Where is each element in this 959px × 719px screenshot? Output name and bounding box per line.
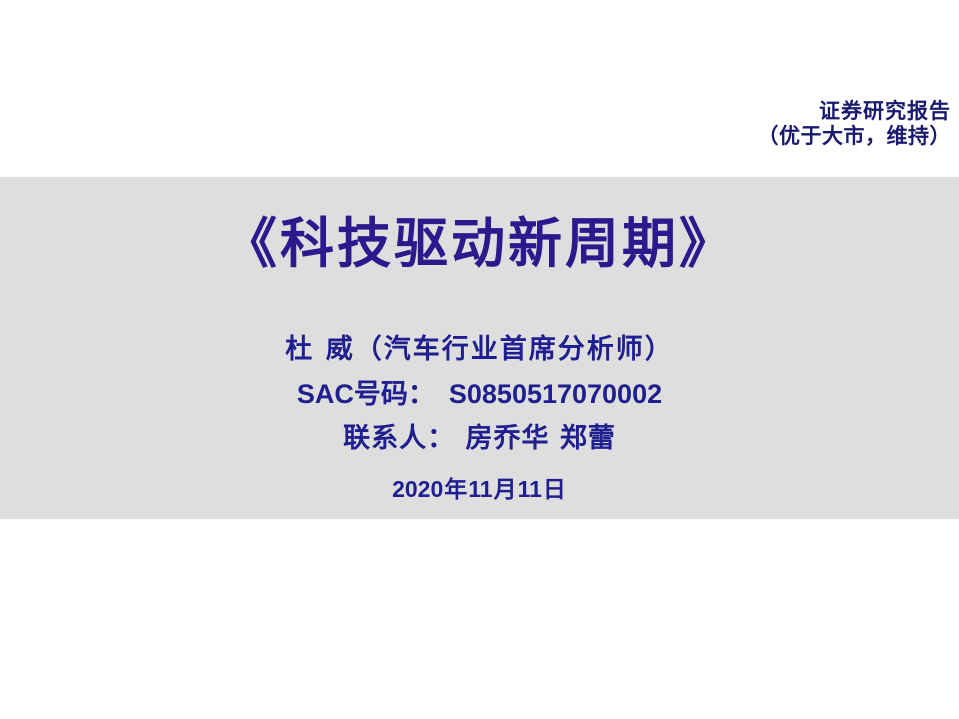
publication-date-row: 2020年11月11日 — [0, 478, 959, 501]
date-day-unit: 日 — [542, 476, 567, 503]
slide-canvas: 证券研究报告 （优于大市，维持） 《科技驱动新周期》 杜 威（汽车行业首席分析师… — [0, 0, 959, 719]
sac-label-cn: 号码： — [354, 379, 435, 410]
date-day: 11 — [518, 476, 542, 502]
analyst-name-label: 杜 威（汽车行业首席分析师） — [0, 336, 959, 363]
sac-number-value: S0850517070002 — [449, 379, 662, 409]
report-header: 证券研究报告 （优于大市，维持） — [531, 99, 951, 149]
sac-label-en: SAC — [297, 379, 354, 409]
date-year-unit: 年 — [443, 476, 468, 503]
sac-number-row: SAC号码：S0850517070002 — [0, 381, 959, 408]
report-type-label: 证券研究报告 — [531, 99, 951, 124]
date-month: 11 — [468, 476, 492, 502]
contacts-label: 联系人： 房乔华 郑蕾 — [0, 425, 959, 452]
date-year: 2020 — [392, 476, 443, 502]
presenter-info-block: 杜 威（汽车行业首席分析师） SAC号码：S0850517070002 联系人：… — [0, 336, 959, 501]
page-title: 《科技驱动新周期》 — [0, 215, 959, 272]
investment-rating-label: （优于大市，维持） — [531, 124, 951, 149]
date-month-unit: 月 — [493, 476, 518, 503]
